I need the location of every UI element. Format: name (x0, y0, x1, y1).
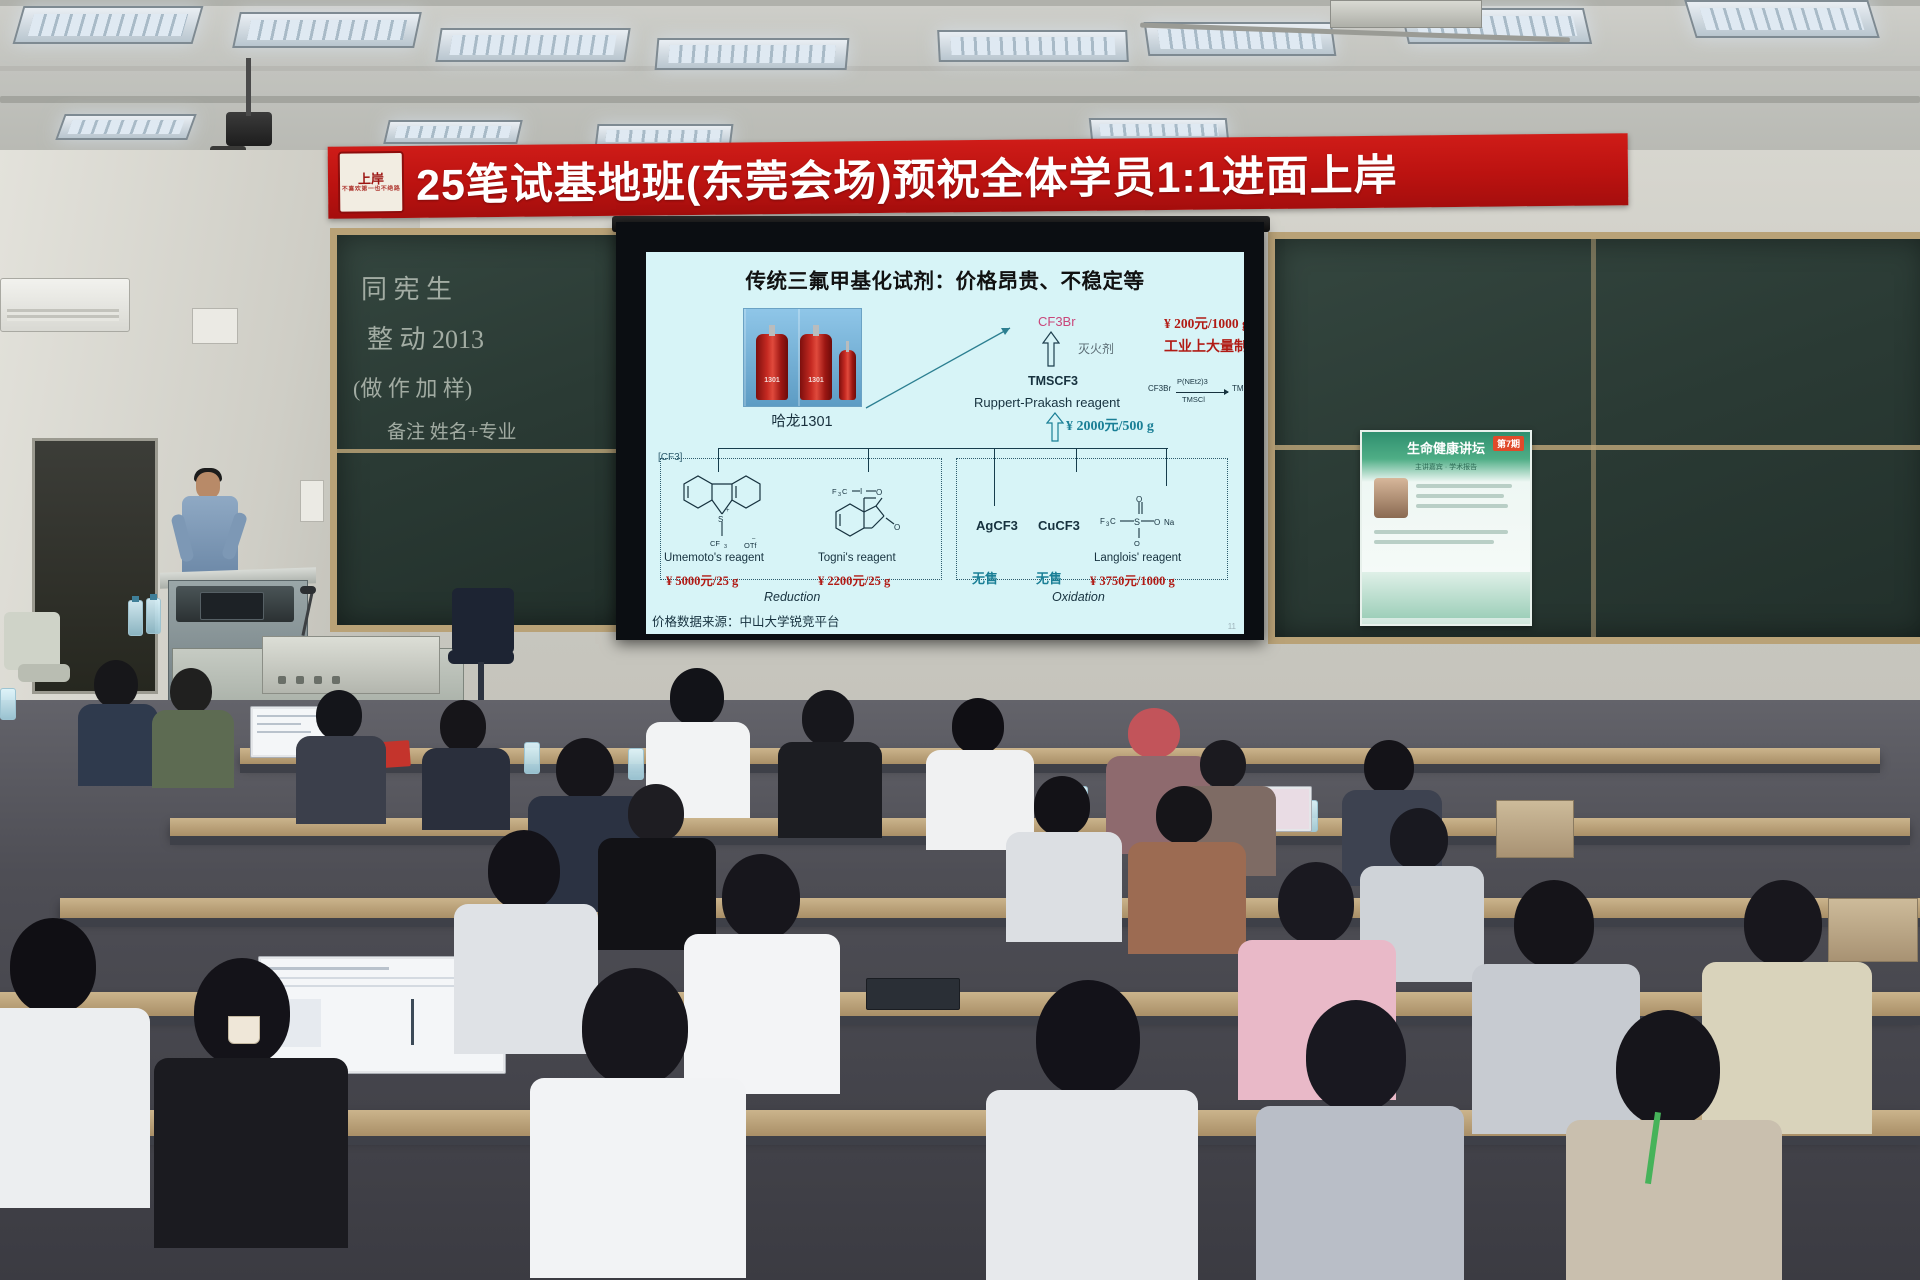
svg-text:S: S (1134, 517, 1140, 527)
poster-subtitle: 主讲嘉宾 · 学术报告 (1362, 462, 1530, 472)
person-head (1036, 980, 1140, 1096)
person-head (556, 738, 614, 800)
poster-footer-band (1362, 572, 1530, 618)
person-head (670, 668, 724, 726)
person-head (1306, 1000, 1406, 1112)
person-head (170, 668, 212, 714)
person-body (78, 704, 158, 786)
ceiling-light (1684, 0, 1880, 38)
umemoto-structure: S + CF 3 – OTf (674, 468, 794, 552)
wall-switch (300, 480, 324, 522)
ceiling-light (937, 30, 1129, 62)
poster-portrait (1374, 478, 1408, 518)
synthesis-from: CF3Br (1148, 384, 1171, 393)
chair (4, 612, 60, 670)
air-conditioner (0, 278, 130, 332)
note-industrial-production: 工业上大量制备 (1164, 336, 1244, 356)
svg-text:C: C (1110, 517, 1116, 526)
person-head (952, 698, 1004, 754)
water-bottle (524, 742, 540, 774)
ceiling-light (655, 38, 850, 70)
cylinder-label: 1301 (756, 377, 788, 384)
person-body (296, 736, 386, 824)
poster-text-line (1374, 540, 1494, 544)
halon-cylinder-photo: 1301 1301 (743, 308, 862, 407)
svg-text:O: O (894, 523, 900, 532)
water-bottle (0, 688, 16, 720)
blackboard-left: 同 宪 生 整 动 2013 (做 作 加 样) 备注 姓名+专业 (330, 228, 634, 632)
tablet[interactable] (866, 978, 960, 1010)
poster-text-line (1416, 484, 1512, 488)
speaker-head (196, 472, 220, 499)
reagent-price-agcf3: 无售 (972, 568, 998, 587)
synthesis-arrow (1176, 392, 1228, 393)
projector (226, 112, 272, 146)
poster-text-line (1416, 494, 1504, 498)
person-body (1472, 964, 1640, 1134)
cardboard-box (1496, 800, 1574, 858)
banner-logo: 上岸 不喜欢第一也不绝路 (338, 151, 405, 214)
svg-text:O: O (876, 488, 882, 497)
lecture-hall-scene: 上岸 不喜欢第一也不绝路 25笔试基地班(东莞会场)预祝全体学员1:1进面上岸 … (0, 0, 1920, 1280)
wall-notice (192, 308, 238, 344)
podium-monitor (200, 592, 264, 620)
synthesis-arrow-head (1224, 389, 1229, 395)
event-poster: 生命健康讲坛 第7期 主讲嘉宾 · 学术报告 (1360, 430, 1532, 626)
svg-text:F: F (832, 487, 837, 496)
banner-logo-main: 上岸 (358, 172, 384, 186)
ceiling-light (13, 6, 204, 44)
label-fire-extinguisher: 灭火剂 (1078, 340, 1114, 357)
control-button[interactable] (296, 676, 304, 684)
reagent-name-umemoto: Umemoto's reagent (664, 552, 764, 564)
person-head (1128, 708, 1180, 758)
reagent-name-langlois: Langlois' reagent (1094, 552, 1181, 564)
person-head (194, 958, 290, 1066)
water-bottle (128, 600, 143, 636)
svg-text:+: + (726, 508, 730, 514)
svg-text:O: O (1134, 539, 1140, 548)
svg-text:O: O (1136, 495, 1142, 504)
ceiling-light (383, 120, 523, 144)
synthesis-reagent-top: P(NEt2)3 (1177, 377, 1208, 386)
person-body (1256, 1106, 1464, 1280)
svg-text:O: O (1154, 518, 1160, 527)
synthesis-reagent-bottom: TMSCl (1182, 395, 1205, 404)
person-head (316, 690, 362, 740)
svg-text:3: 3 (724, 544, 727, 550)
person-head (582, 968, 688, 1086)
person-body (422, 748, 510, 830)
person-head (1364, 740, 1414, 794)
chalk-line: 备注 姓名+专业 (387, 417, 516, 444)
control-panel (262, 636, 440, 694)
person-body (154, 1058, 348, 1248)
reagent-price-cucf3: 无售 (1036, 568, 1062, 587)
reagent-price-togni: ¥ 2200元/25 g (818, 570, 890, 589)
projector-arm (246, 58, 251, 116)
person-head (440, 700, 486, 752)
control-button[interactable] (278, 676, 286, 684)
compound-tmscf3: TMSCF3 (1028, 374, 1078, 388)
fire-extinguisher-cylinder: 1301 (800, 334, 832, 400)
chalk-line: 整 动 2013 (367, 319, 484, 356)
cup (228, 1016, 260, 1044)
water-bottle (628, 748, 644, 780)
slide-source-note: 价格数据来源：中山大学锐竞平台 (652, 611, 840, 630)
compound-cf3br: CF3Br (1038, 314, 1076, 329)
ceiling-light (55, 114, 196, 140)
person-head (722, 854, 800, 940)
person-body (1566, 1120, 1782, 1280)
poster-text-line (1416, 504, 1508, 508)
person-body (1006, 832, 1122, 942)
up-arrow-icon (1046, 412, 1064, 442)
svg-text:OTf: OTf (744, 541, 757, 550)
person-body (1702, 962, 1872, 1134)
up-arrow-icon (1042, 330, 1060, 368)
oxidation-label: Oxidation (1052, 590, 1105, 604)
tree-connector-right (938, 448, 1168, 449)
desk-row (60, 898, 1920, 918)
person-head (1616, 1010, 1720, 1126)
reagent-name-agcf3: AgCF3 (976, 518, 1018, 533)
chair (452, 588, 514, 654)
reagent-price-langlois: ¥ 3750元/1000 g (1090, 570, 1175, 589)
person-head (1278, 862, 1354, 944)
person-head (488, 830, 560, 910)
togni-structure: F 3 C I O O (814, 468, 926, 554)
control-button[interactable] (332, 676, 340, 684)
ceiling-light (435, 28, 630, 62)
person-head (802, 690, 854, 746)
svg-text:F: F (1100, 517, 1105, 526)
person-head (1200, 740, 1246, 788)
person-head (628, 784, 684, 842)
person-body (454, 904, 598, 1054)
person-body (1128, 842, 1246, 954)
presentation-slide: 传统三氟甲基化试剂：价格昂贵、不稳定等 1301 1301 哈龙1301 CF3… (646, 252, 1244, 634)
person-head (1514, 880, 1594, 968)
reduction-label: Reduction (764, 590, 820, 604)
red-banner: 上岸 不喜欢第一也不绝路 25笔试基地班(东莞会场)预祝全体学员1:1进面上岸 (328, 133, 1629, 219)
water-bottle (146, 598, 161, 634)
poster-text-line (1374, 530, 1508, 534)
banner-text: 25笔试基地班(东莞会场)预祝全体学员1:1进面上岸 (404, 138, 1629, 213)
poster-badge: 第7期 (1493, 436, 1524, 451)
cardboard-box (1828, 898, 1918, 962)
chalk-line: 同 宪 生 (361, 269, 452, 306)
ceiling-light (232, 12, 422, 48)
person-head (10, 918, 96, 1014)
reagent-ruppert-prakash: Ruppert-Prakash reagent (974, 395, 1120, 410)
svg-text:I: I (860, 487, 862, 496)
price-tmscf3: ¥ 2000元/500 g (1066, 415, 1154, 435)
person-head (1156, 786, 1212, 844)
price-cf3br: ¥ 200元/1000 g (1164, 312, 1244, 332)
person-body (778, 742, 882, 838)
tree-connector-left (718, 448, 938, 449)
synthesis-to: TMSCF3 (1232, 384, 1244, 393)
ceiling-duct (1330, 0, 1482, 28)
person-head (1744, 880, 1822, 966)
chalk-line: (做 作 加 样) (353, 371, 472, 403)
slide-page-number: 11 (1228, 622, 1236, 631)
person-head (1390, 808, 1448, 870)
person-head (1034, 776, 1090, 836)
person-body (152, 710, 234, 788)
langlois-structure: F 3 C S O O O Na (1098, 492, 1218, 548)
person-head (94, 660, 138, 708)
halon-caption: 哈龙1301 (732, 410, 872, 431)
cylinder-label: 1301 (800, 377, 832, 384)
fire-extinguisher-cylinder: 1301 (756, 334, 788, 400)
person-body (530, 1078, 746, 1278)
svg-text:Na: Na (1164, 518, 1175, 527)
reagent-price-umemoto: ¥ 5000元/25 g (666, 570, 738, 589)
reagent-name-togni: Togni's reagent (818, 552, 896, 564)
person-body (0, 1008, 150, 1208)
person-body (986, 1090, 1198, 1280)
svg-text:3: 3 (838, 492, 841, 498)
svg-text:CF: CF (710, 539, 720, 548)
control-button[interactable] (314, 676, 322, 684)
svg-text:C: C (842, 487, 848, 496)
chair (18, 664, 70, 682)
person-body (684, 934, 840, 1094)
reagent-name-cucf3: CuCF3 (1038, 518, 1080, 533)
microphone-head (300, 586, 316, 594)
banner-logo-sub: 不喜欢第一也不绝路 (342, 186, 401, 193)
fire-extinguisher-cylinder-small (839, 350, 856, 400)
slide-title: 传统三氟甲基化试剂：价格昂贵、不稳定等 (646, 264, 1244, 294)
